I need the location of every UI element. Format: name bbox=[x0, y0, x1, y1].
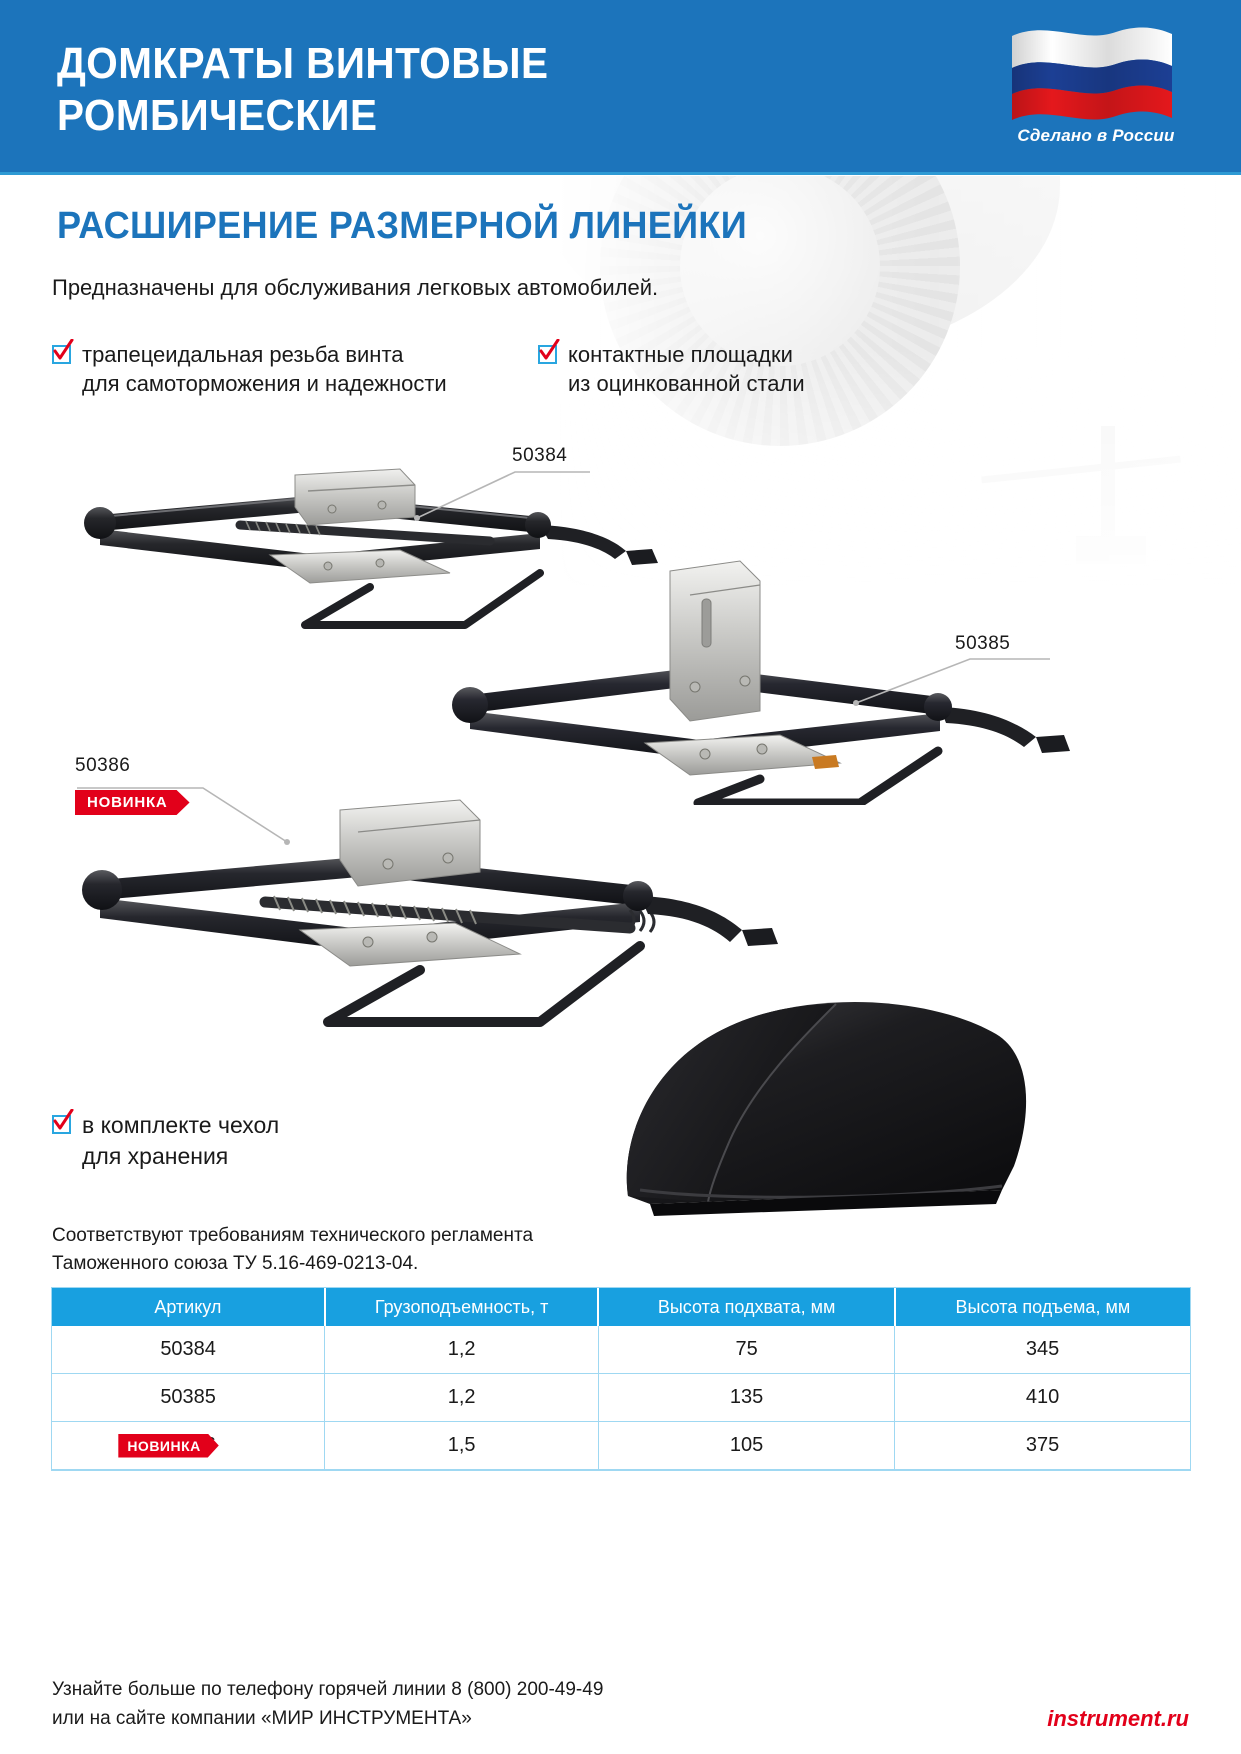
table-header-pickup-height: Высота подхвата, мм bbox=[598, 1288, 894, 1326]
header-banner: ДОМКРАТЫ ВИНТОВЫЕ РОМБИЧЕСКИЕ Сделано в … bbox=[0, 0, 1241, 172]
cell-pickup-height: 135 bbox=[598, 1374, 894, 1422]
page-title: ДОМКРАТЫ ВИНТОВЫЕ РОМБИЧЕСКИЕ bbox=[57, 38, 793, 142]
table-header-capacity: Грузоподъемность, т bbox=[325, 1288, 599, 1326]
footer-contact-text: Узнайте больше по телефону горячей линии… bbox=[52, 1676, 603, 1733]
novinka-badge-row: НОВИНКА bbox=[118, 1434, 218, 1458]
header-underline bbox=[0, 172, 1241, 175]
flag-caption: Сделано в России bbox=[996, 126, 1196, 146]
checkbox-checked-icon bbox=[52, 1115, 71, 1134]
specification-table: Артикул Грузоподъемность, т Высота подхв… bbox=[52, 1288, 1190, 1470]
cell-article: НОВИНКА 50386 bbox=[52, 1422, 325, 1470]
feature-label: контактные площадки из оцинкованной стал… bbox=[568, 340, 805, 399]
table-header-article: Артикул bbox=[52, 1288, 325, 1326]
footer-website-link[interactable]: instrument.ru bbox=[1047, 1706, 1189, 1732]
table-row: НОВИНКА 50386 1,5 105 375 bbox=[52, 1422, 1190, 1470]
intro-text: Предназначены для обслуживания легковых … bbox=[52, 275, 658, 301]
table-row: 50385 1,2 135 410 bbox=[52, 1374, 1190, 1422]
cell-lift-height: 410 bbox=[895, 1374, 1190, 1422]
poster-page: ДОМКРАТЫ ВИНТОВЫЕ РОМБИЧЕСКИЕ Сделано в … bbox=[0, 0, 1241, 1754]
section-subtitle: РАСШИРЕНИЕ РАЗМЕРНОЙ ЛИНЕЙКИ bbox=[57, 205, 747, 248]
cell-capacity: 1,2 bbox=[325, 1374, 599, 1422]
feature-item-contact-pads: контактные площадки из оцинкованной стал… bbox=[538, 340, 805, 399]
checkbox-checked-icon bbox=[52, 345, 71, 364]
table-header-lift-height: Высота подъема, мм bbox=[895, 1288, 1190, 1326]
compliance-text: Соответствуют требованиям технического р… bbox=[52, 1222, 533, 1277]
feature-item-screw-thread: трапецеидальная резьба винта для самотор… bbox=[52, 340, 447, 399]
callout-label-50386: 50386 bbox=[75, 755, 130, 777]
cell-article: 50384 bbox=[52, 1326, 325, 1374]
russian-flag-icon bbox=[1006, 22, 1176, 126]
checkbox-checked-icon bbox=[538, 345, 557, 364]
cell-capacity: 1,2 bbox=[325, 1326, 599, 1374]
table-row: 50384 1,2 75 345 bbox=[52, 1326, 1190, 1374]
callout-label-50384: 50384 bbox=[512, 445, 567, 467]
made-in-russia-block: Сделано в России bbox=[996, 22, 1196, 162]
product-image-storage-case bbox=[610, 990, 1040, 1220]
cell-pickup-height: 75 bbox=[598, 1326, 894, 1374]
callout-label-50385: 50385 bbox=[955, 633, 1010, 655]
novinka-badge-callout: НОВИНКА bbox=[75, 790, 190, 815]
feature-item-storage-case: в комплекте чехол для хранения bbox=[52, 1110, 279, 1172]
feature-label: трапецеидальная резьба винта для самотор… bbox=[82, 340, 447, 399]
cell-lift-height: 345 bbox=[895, 1326, 1190, 1374]
cell-pickup-height: 105 bbox=[598, 1422, 894, 1470]
cell-article: 50385 bbox=[52, 1374, 325, 1422]
feature-label: в комплекте чехол для хранения bbox=[82, 1110, 279, 1172]
cell-lift-height: 375 bbox=[895, 1422, 1190, 1470]
cell-capacity: 1,5 bbox=[325, 1422, 599, 1470]
table-header-row: Артикул Грузоподъемность, т Высота подхв… bbox=[52, 1288, 1190, 1326]
